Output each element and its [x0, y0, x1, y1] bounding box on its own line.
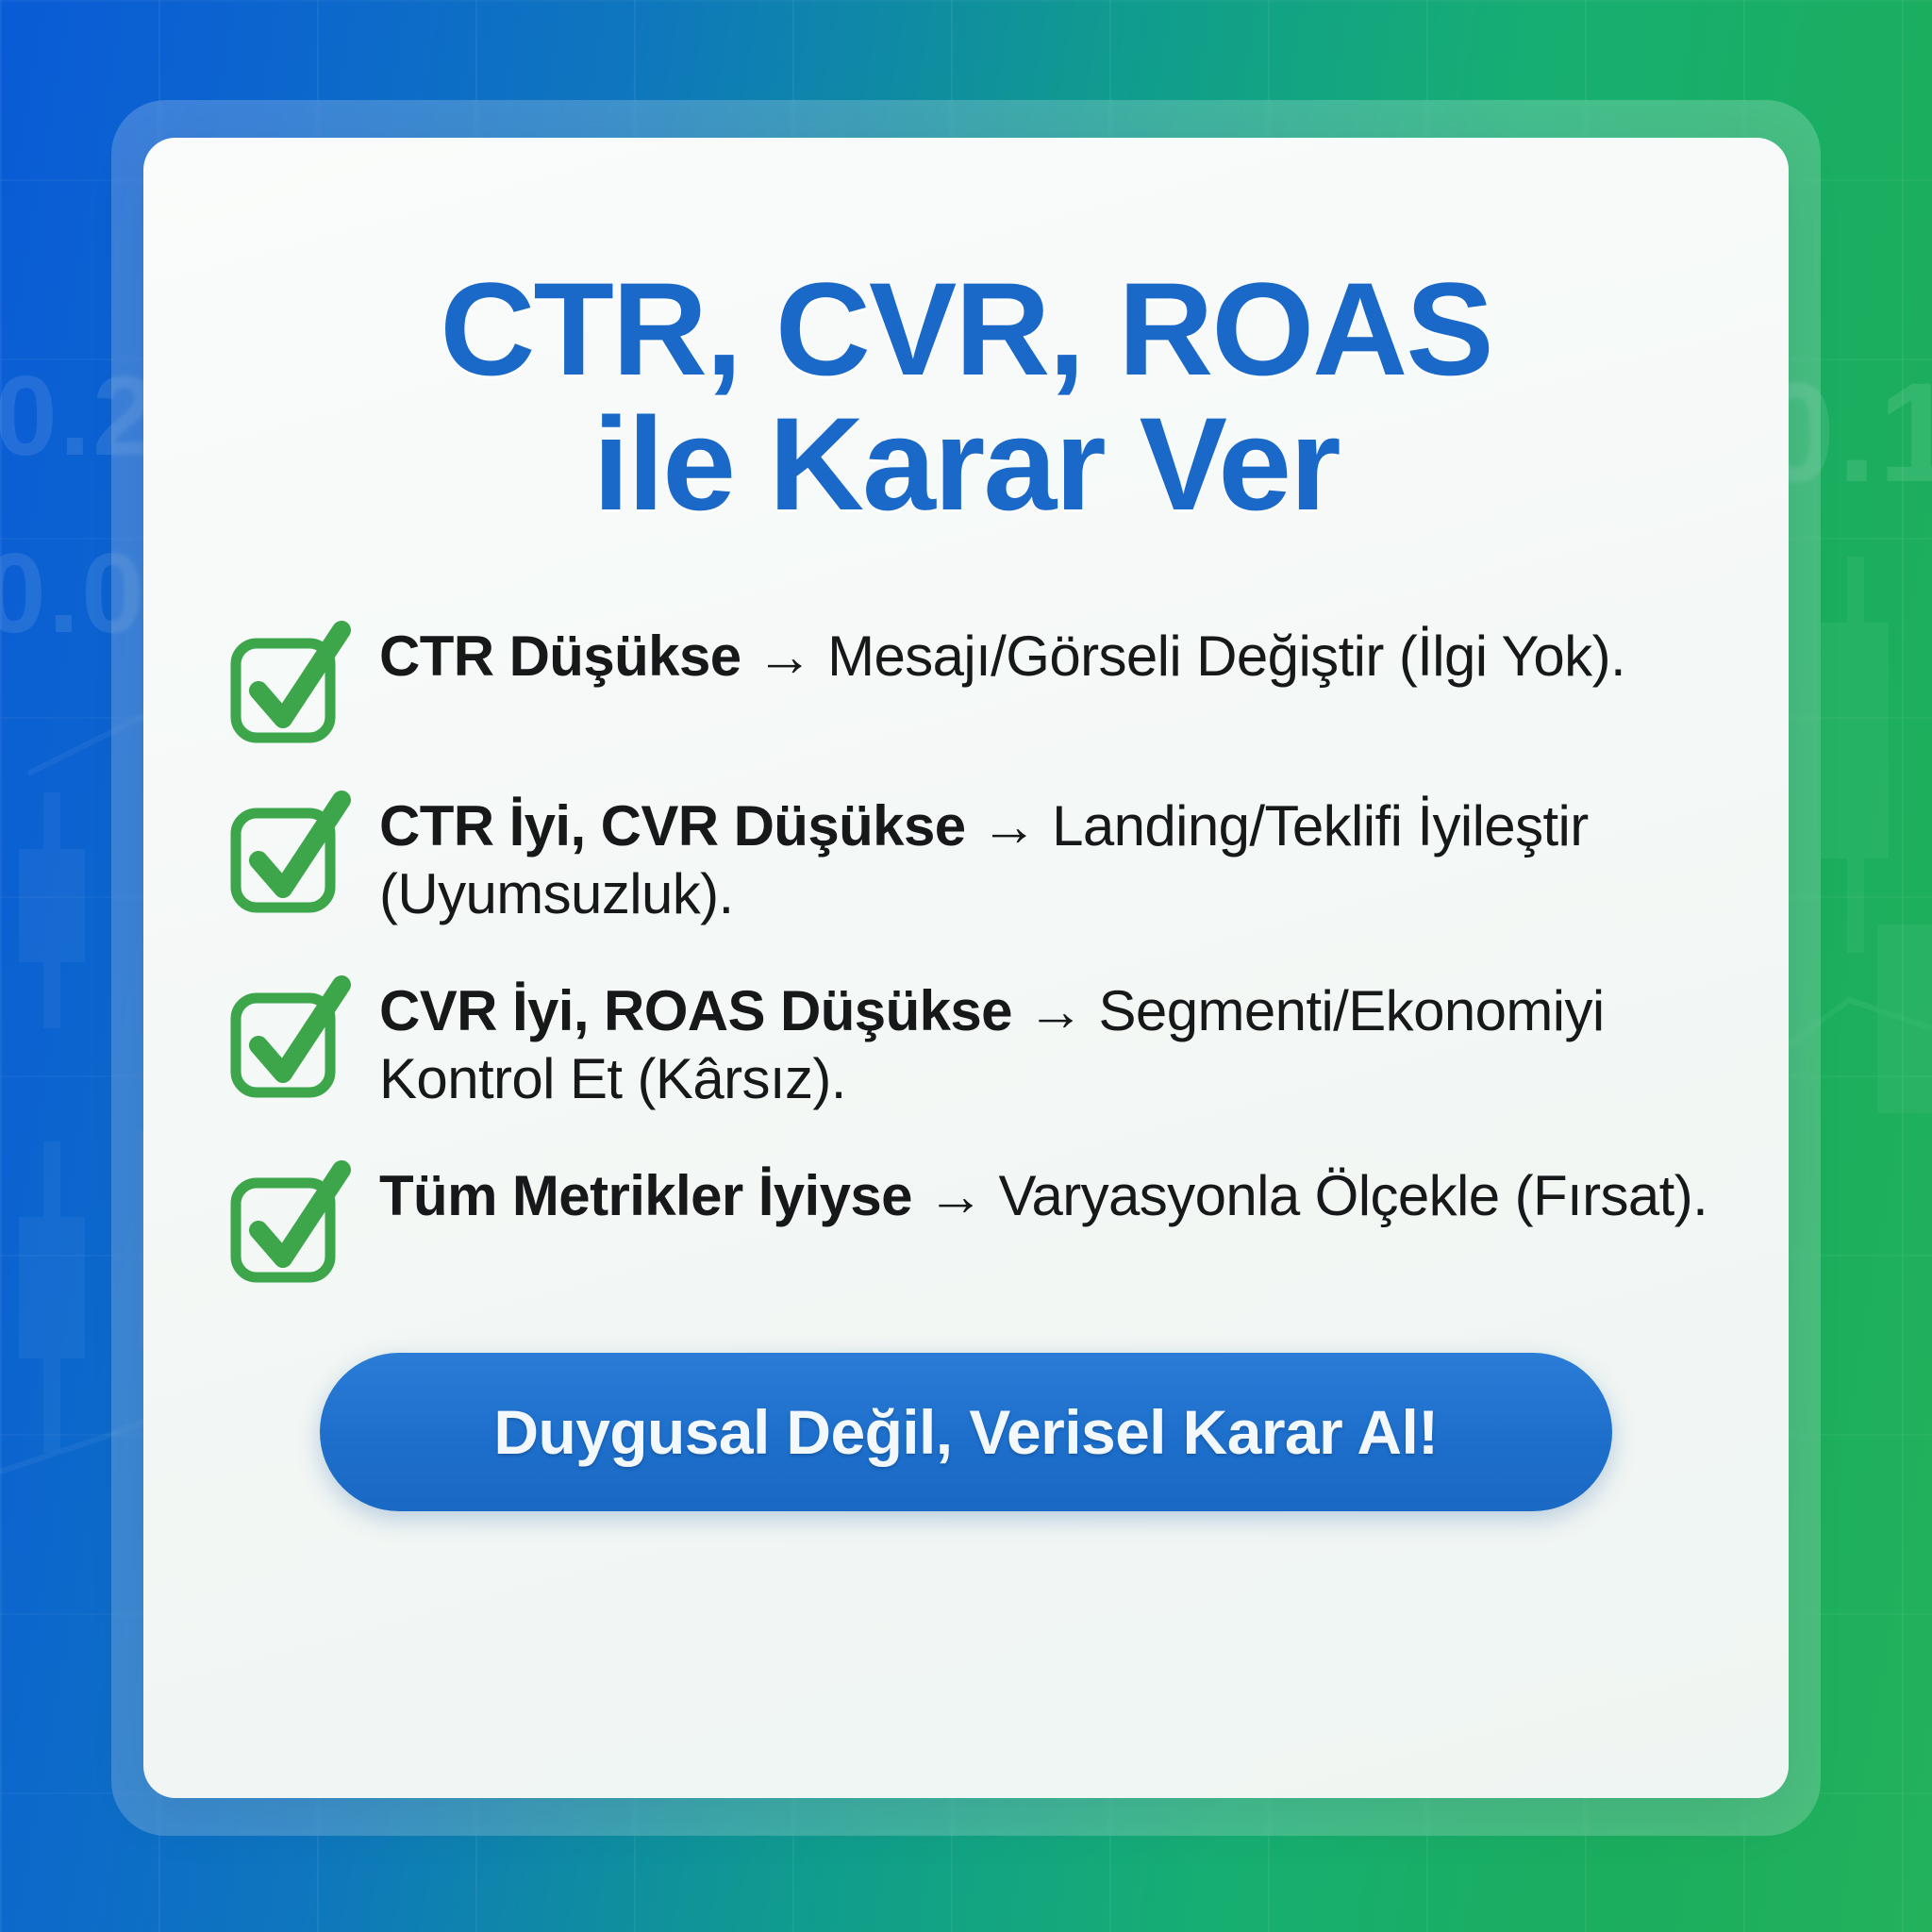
list-item-bold: CTR Düşükse — [379, 625, 741, 688]
list-item-text: Tüm Metrikler İyiyse → Varyasyonla Ölçek… — [379, 1162, 1707, 1230]
cta-button[interactable]: Duygusal Değil, Verisel Karar Al! — [320, 1353, 1612, 1511]
list-item-bold: CVR İyi, ROAS Düşükse — [379, 979, 1012, 1042]
list-item[interactable]: CVR İyi, ROAS Düşükse → Segmenti/Ekonomi… — [230, 977, 1723, 1113]
list-item-rest: Mesajı/Görseli Değiştir (İlgi Yok). — [827, 625, 1625, 688]
checkbox-checked-icon — [230, 798, 343, 913]
list-item-text: CVR İyi, ROAS Düşükse → Segmenti/Ekonomi… — [379, 977, 1723, 1113]
list-item[interactable]: Tüm Metrikler İyiyse → Varyasyonla Ölçek… — [230, 1162, 1723, 1283]
checkbox-checked-icon — [230, 983, 343, 1098]
poster-background: 0.13 0.26 0.09 CTR, CVR, ROAS ile Karar … — [0, 0, 1932, 1932]
page-title: CTR, CVR, ROAS ile Karar Ver — [209, 262, 1723, 532]
checkbox-checked-icon — [230, 628, 343, 743]
arrow-icon: → — [981, 794, 1037, 858]
list-item[interactable]: CTR İyi, CVR Düşükse → Landing/Teklifi İ… — [230, 792, 1723, 928]
content-card: CTR, CVR, ROAS ile Karar Ver CTR Düşükse… — [143, 138, 1789, 1798]
arrow-icon: → — [757, 625, 812, 688]
cta-container: Duygusal Değil, Verisel Karar Al! — [209, 1353, 1723, 1511]
page-title-line-1: CTR, CVR, ROAS — [440, 255, 1491, 403]
arrow-icon: → — [927, 1164, 983, 1227]
list-item[interactable]: CTR Düşükse → Mesajı/Görseli Değiştir (İ… — [230, 623, 1723, 743]
list-item-bold: Tüm Metrikler İyiyse — [379, 1164, 912, 1227]
list-item-bold: CTR İyi, CVR Düşükse — [379, 794, 966, 858]
page-title-line-2: ile Karar Ver — [209, 397, 1723, 532]
checkbox-checked-icon — [230, 1168, 343, 1283]
list-item-rest: Varyasyonla Ölçekle (Fırsat). — [998, 1164, 1707, 1227]
list-item-text: CTR Düşükse → Mesajı/Görseli Değiştir (İ… — [379, 623, 1625, 691]
checklist: CTR Düşükse → Mesajı/Görseli Değiştir (İ… — [209, 623, 1723, 1283]
arrow-icon: → — [1027, 979, 1083, 1042]
list-item-text: CTR İyi, CVR Düşükse → Landing/Teklifi İ… — [379, 792, 1723, 928]
